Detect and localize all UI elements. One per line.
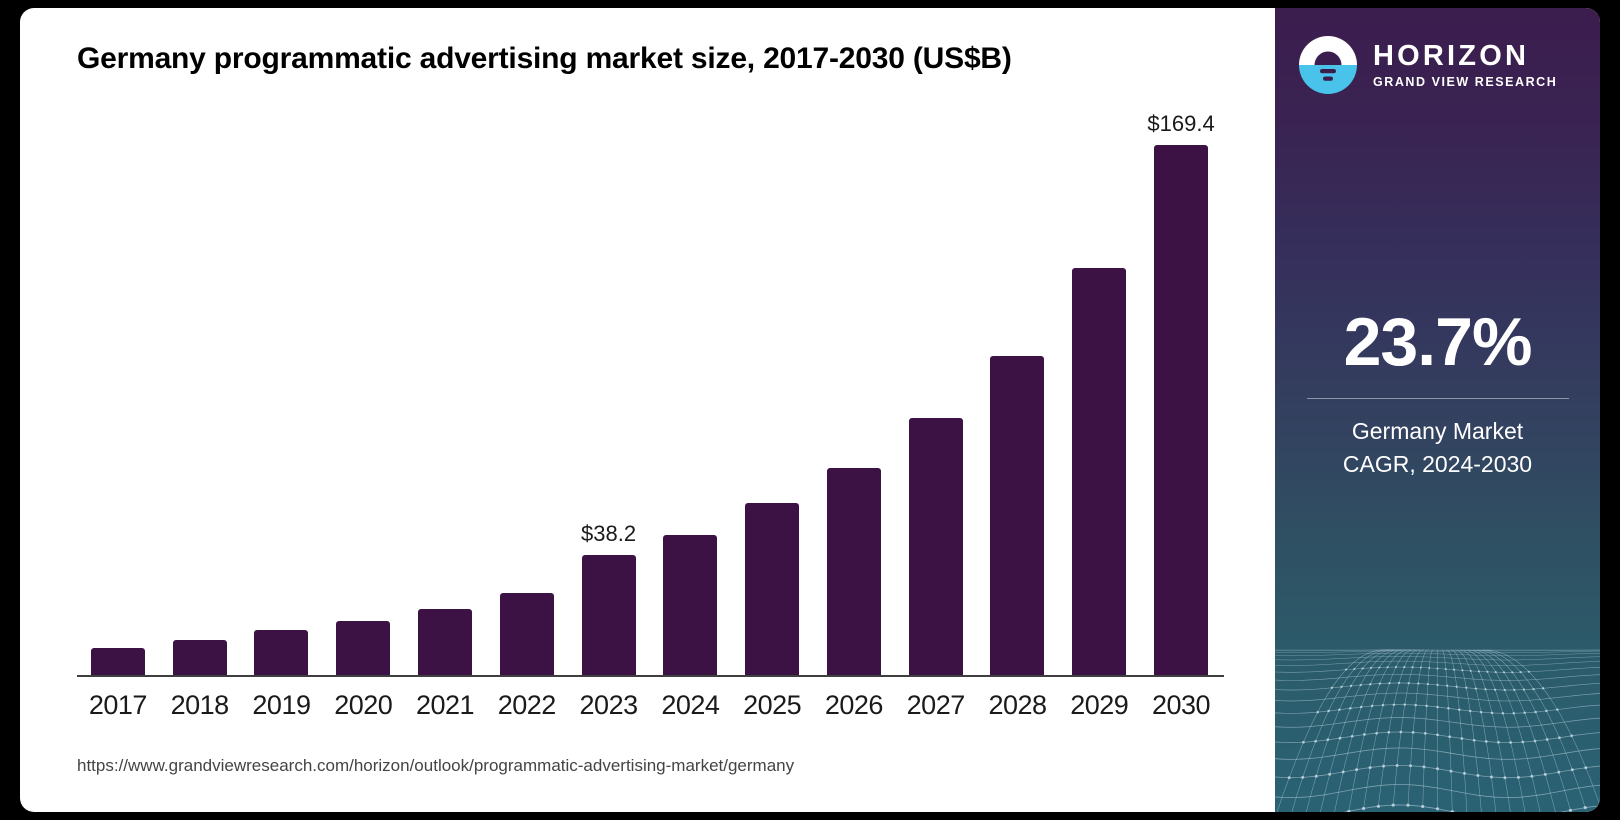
logo: HORIZON GRAND VIEW RESEARCH [1299, 36, 1557, 94]
x-tick-2028: 2028 [977, 690, 1059, 730]
bar-plot: $38.2$169.4 [77, 118, 1222, 675]
bar-value-label: $169.4 [1147, 111, 1214, 137]
bar-2024[interactable] [663, 535, 717, 676]
bar-slot [895, 118, 977, 675]
screenshot-root: Germany programmatic advertising market … [0, 0, 1620, 820]
x-tick-2021: 2021 [404, 690, 486, 730]
logo-text: HORIZON GRAND VIEW RESEARCH [1373, 41, 1557, 89]
source-url[interactable]: https://www.grandviewresearch.com/horizo… [77, 756, 794, 776]
x-tick-2019: 2019 [241, 690, 323, 730]
bar-2028[interactable] [990, 356, 1044, 675]
chart-region: Germany programmatic advertising market … [20, 8, 1275, 812]
branding-panel: HORIZON GRAND VIEW RESEARCH 23.7% German… [1275, 8, 1600, 812]
bar-2026[interactable] [827, 468, 881, 675]
wireframe-grid-decoration [1275, 622, 1600, 812]
cagr-caption-line-1: Germany Market [1275, 415, 1600, 448]
x-tick-2030: 2030 [1140, 690, 1222, 730]
bar-2025[interactable] [745, 503, 799, 675]
x-tick-2023: 2023 [568, 690, 650, 730]
bar-series: $38.2$169.4 [77, 118, 1222, 675]
x-axis-tick-labels: 2017201820192020202120222023202420252026… [77, 690, 1222, 730]
x-tick-2029: 2029 [1058, 690, 1140, 730]
bar-slot [159, 118, 241, 675]
x-tick-2027: 2027 [895, 690, 977, 730]
bar-slot [649, 118, 731, 675]
bar-slot: $169.4 [1140, 118, 1222, 675]
x-tick-2024: 2024 [649, 690, 731, 730]
chart-title: Germany programmatic advertising market … [77, 38, 1137, 81]
bar-slot [731, 118, 813, 675]
horizon-logo-icon [1299, 36, 1357, 94]
chart-card: Germany programmatic advertising market … [20, 8, 1600, 812]
x-axis-line [77, 675, 1224, 677]
bar-2023[interactable] [582, 555, 636, 675]
logo-subtitle: GRAND VIEW RESEARCH [1373, 75, 1557, 89]
x-tick-2026: 2026 [813, 690, 895, 730]
bar-2018[interactable] [173, 640, 227, 675]
bar-2020[interactable] [336, 621, 390, 675]
bar-2021[interactable] [418, 609, 472, 675]
bar-slot [813, 118, 895, 675]
bar-slot [77, 118, 159, 675]
x-tick-2025: 2025 [731, 690, 813, 730]
logo-title: HORIZON [1373, 41, 1557, 71]
bar-2030[interactable] [1154, 145, 1208, 675]
bar-slot [241, 118, 323, 675]
bar-slot [322, 118, 404, 675]
divider [1307, 398, 1569, 399]
cagr-block: 23.7% Germany Market CAGR, 2024-2030 [1275, 308, 1600, 480]
bar-2017[interactable] [91, 648, 145, 675]
cagr-caption-line-2: CAGR, 2024-2030 [1275, 448, 1600, 481]
x-tick-2018: 2018 [159, 690, 241, 730]
x-tick-2022: 2022 [486, 690, 568, 730]
bar-slot [977, 118, 1059, 675]
cagr-caption: Germany Market CAGR, 2024-2030 [1275, 415, 1600, 480]
cagr-value: 23.7% [1275, 308, 1600, 376]
bar-2029[interactable] [1072, 268, 1126, 675]
x-tick-2020: 2020 [322, 690, 404, 730]
bar-2019[interactable] [254, 630, 308, 675]
bar-2022[interactable] [500, 593, 554, 675]
bar-value-label: $38.2 [581, 521, 636, 547]
bar-slot: $38.2 [568, 118, 650, 675]
bar-slot [404, 118, 486, 675]
bar-slot [486, 118, 568, 675]
x-tick-2017: 2017 [77, 690, 159, 730]
bar-2027[interactable] [909, 418, 963, 675]
bar-slot [1058, 118, 1140, 675]
